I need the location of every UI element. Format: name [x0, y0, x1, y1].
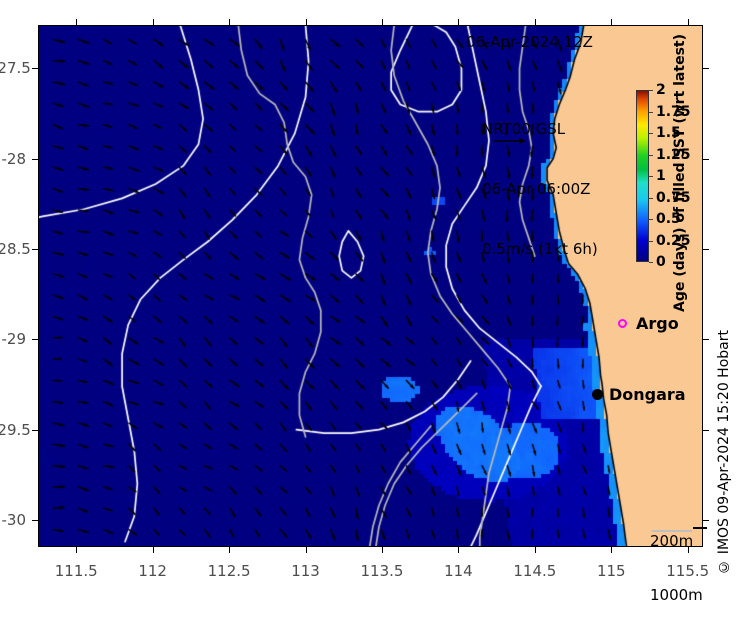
argo-legend-label: Argo: [636, 314, 679, 333]
map-plot-area[interactable]: [38, 25, 703, 547]
contour-1000m-sample-line: [693, 527, 707, 529]
bathymetry-and-current-overlay: [38, 25, 703, 547]
y-axis-tick: [32, 249, 38, 250]
colorbar-tick-label: 2: [656, 82, 666, 98]
y-axis-tick: [32, 520, 38, 521]
y-axis-tick-right: [703, 520, 709, 521]
x-axis-tick: [76, 547, 77, 553]
x-axis-tick: [306, 547, 307, 553]
x-axis-label: 111.5: [55, 562, 98, 580]
current-time-label: 06-Apr 06:00Z: [482, 179, 598, 199]
dongara-place-label: Dongara: [609, 385, 686, 404]
x-axis-tick-top: [535, 19, 536, 25]
colorbar-tick-mark: [649, 133, 653, 134]
valid-time-stamp: 06-Apr-2024 12Z: [466, 33, 593, 51]
y-axis-tick-right: [703, 339, 709, 340]
y-axis-label: -28.5: [0, 240, 26, 258]
y-axis-tick-right: [703, 249, 709, 250]
x-axis-tick: [458, 547, 459, 553]
contour-200m-label: 200m: [650, 532, 703, 550]
colorbar-tick-mark: [649, 90, 653, 91]
copyright-credit: © IMOS 09-Apr-2024 15:20 Hobart: [716, 330, 732, 575]
dongara-dot-icon: [592, 389, 603, 400]
colorbar: [636, 90, 649, 262]
colorbar-tick-mark: [649, 112, 653, 113]
x-axis-tick-top: [153, 19, 154, 25]
x-axis-label: 114.5: [513, 562, 556, 580]
x-axis-tick-top: [382, 19, 383, 25]
x-axis-label: 112.5: [208, 562, 251, 580]
x-axis-tick-top: [76, 19, 77, 25]
colorbar-title: Age (days) of filled SST (wrt latest): [672, 34, 688, 312]
y-axis-label: -28: [0, 150, 26, 168]
colorbar-tick-mark: [649, 241, 653, 242]
dongara-place-marker: Dongara: [592, 385, 686, 404]
argo-legend-entry: Argo: [618, 314, 679, 333]
x-axis-tick: [229, 547, 230, 553]
colorbar-tick-mark: [649, 176, 653, 177]
y-axis-label: -27.5: [0, 59, 26, 77]
x-axis-label: 114: [444, 562, 473, 580]
y-axis-tick: [32, 68, 38, 69]
y-axis-tick-right: [703, 68, 709, 69]
current-scale-label: 0.5m/s (1kt 6h): [482, 239, 598, 259]
colorbar-tick-mark: [649, 155, 653, 156]
y-axis-tick: [32, 430, 38, 431]
x-axis-tick: [153, 547, 154, 553]
colorbar-tick-label: 0: [656, 254, 666, 270]
y-axis-tick: [32, 339, 38, 340]
contour-200m-sample-line: [652, 530, 692, 532]
colorbar-tick-mark: [649, 219, 653, 220]
x-axis-label: 113: [291, 562, 320, 580]
x-axis-tick-top: [306, 19, 307, 25]
colorbar-tick-mark: [649, 198, 653, 199]
y-axis-label: -29: [0, 330, 26, 348]
x-axis-label: 115: [597, 562, 626, 580]
y-axis-label: -29.5: [0, 421, 26, 439]
imos-sst-age-map: 111.5112112.5113113.5114114.5115115.5-27…: [0, 0, 740, 592]
colorbar-tick-mark: [649, 262, 653, 263]
bathymetry-scale-legend: 200m 1000m: [650, 496, 703, 640]
argo-marker-icon: [618, 319, 627, 328]
contour-1000m-label: 1000m: [650, 586, 703, 604]
x-axis-label: 113.5: [360, 562, 403, 580]
x-axis-tick: [611, 547, 612, 553]
y-axis-tick-right: [703, 159, 709, 160]
y-axis-tick-right: [703, 430, 709, 431]
colorbar-tick-label: 1: [656, 168, 666, 184]
y-axis-label: -30: [0, 511, 26, 529]
x-axis-tick-top: [688, 19, 689, 25]
x-axis-tick: [535, 547, 536, 553]
current-info-block: NRT00 GSL 06-Apr 06:00Z 0.5m/s (1kt 6h): [482, 79, 598, 299]
x-axis-tick-top: [229, 19, 230, 25]
current-reference-arrow-icon: [493, 136, 527, 146]
x-axis-tick-top: [458, 19, 459, 25]
x-axis-tick: [382, 547, 383, 553]
x-axis-label: 112: [138, 562, 167, 580]
y-axis-tick: [32, 159, 38, 160]
x-axis-tick-top: [611, 19, 612, 25]
